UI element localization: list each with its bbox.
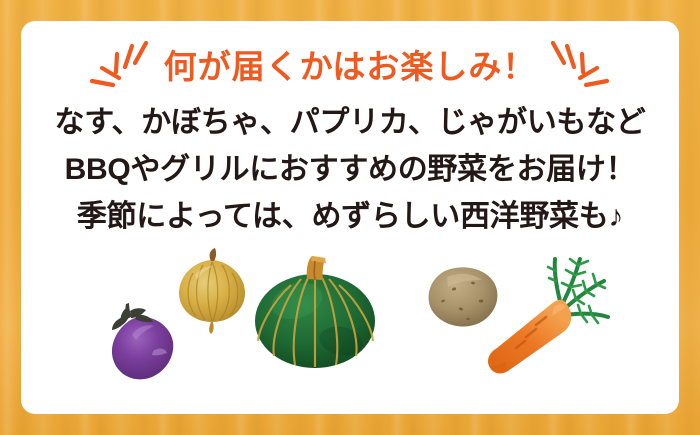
copy-line-1: なす、かぼちゃ、パプリカ、じゃがいもなど xyxy=(21,99,679,146)
title-row: 何が届くかはお楽しみ！ xyxy=(21,39,679,101)
copy-line-1-text: なす、かぼちゃ、パプリカ、じゃがいもなど xyxy=(55,99,646,146)
promo-banner: 何が届くかはお楽しみ！ なす、かぼちゃ、パプリカ、じゃがいもなど BBQやグリル… xyxy=(0,0,700,435)
copy-line-2: BBQやグリルにおすすめの野菜をお届け！ xyxy=(21,146,679,193)
body-copy: なす、かぼちゃ、パプリカ、じゃがいもなど BBQやグリルにおすすめの野菜をお届け… xyxy=(21,99,679,240)
copy-line-3-text: 季節によっては、めずらしい西洋野菜も♪ xyxy=(77,193,623,240)
radiating-lines-burst-right-icon xyxy=(548,41,610,99)
white-card: 何が届くかはお楽しみ！ なす、かぼちゃ、パプリカ、じゃがいもなど BBQやグリル… xyxy=(21,21,679,414)
kabocha-pumpkin-icon xyxy=(249,249,381,381)
copy-line-3: 季節によっては、めずらしい西洋野菜も♪ xyxy=(21,193,679,240)
copy-line-2-text: BBQやグリルにおすすめの野菜をお届け！ xyxy=(65,146,636,193)
vegetable-illustration-row xyxy=(21,239,679,404)
carrot-icon xyxy=(476,243,612,389)
onion-icon xyxy=(167,247,259,339)
